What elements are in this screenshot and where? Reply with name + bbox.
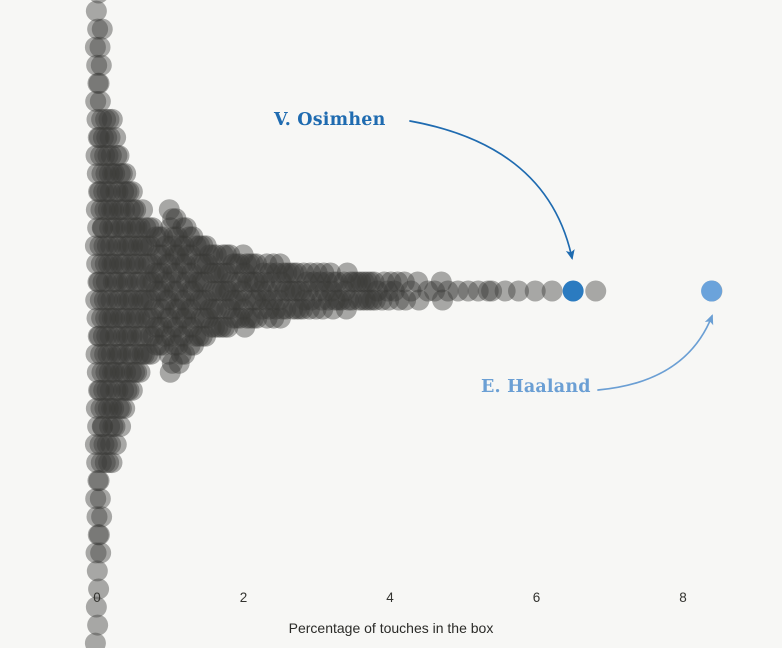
highlight-dot-haaland: [701, 281, 722, 302]
swarm-dot: [108, 145, 129, 166]
swarm-dot: [105, 127, 126, 148]
swarm-dot: [91, 55, 112, 76]
swarm-dot: [129, 362, 150, 383]
swarm-dot: [110, 416, 131, 437]
beeswarm-chart: V. Osimhen E. Haaland 02468 Percentage o…: [0, 0, 782, 648]
swarm-dot: [122, 181, 143, 202]
swarm-dot: [86, 1, 107, 22]
swarm-dot: [90, 91, 111, 112]
swarm-dot: [106, 434, 127, 455]
swarm-dot: [89, 524, 110, 545]
swarm-plot-area: [0, 0, 782, 648]
annotation-arrows-layer: [410, 121, 712, 390]
swarm-dot: [115, 163, 136, 184]
swarm-dot: [90, 37, 111, 58]
swarm-dot: [89, 73, 110, 94]
dots-layer: [85, 0, 722, 648]
swarm-dot: [542, 281, 563, 302]
x-tick-label-6: 6: [533, 590, 541, 605]
x-tick-label-8: 8: [679, 590, 687, 605]
swarm-dot: [101, 452, 122, 473]
annotation-arrow-haaland: [598, 316, 712, 390]
swarm-dot: [87, 560, 108, 581]
swarm-dot: [90, 488, 111, 509]
annotation-label-osimhen: V. Osimhen: [274, 110, 386, 130]
swarm-dot: [102, 109, 123, 130]
x-tick-label-2: 2: [240, 590, 248, 605]
swarm-dot: [92, 19, 113, 40]
x-tick-label-4: 4: [386, 590, 394, 605]
swarm-dot: [91, 506, 112, 527]
swarm-dot: [90, 542, 111, 563]
swarm-dot: [89, 470, 110, 491]
annotation-label-haaland: E. Haaland: [481, 377, 591, 397]
swarm-dot: [122, 380, 143, 401]
x-axis-title: Percentage of touches in the box: [0, 620, 782, 636]
swarm-dot: [585, 281, 606, 302]
highlight-dot-osimhen: [563, 281, 584, 302]
annotation-arrow-osimhen: [410, 121, 572, 258]
swarm-dot: [132, 199, 153, 220]
swarm-dot: [114, 398, 135, 419]
x-tick-label-0: 0: [93, 590, 101, 605]
